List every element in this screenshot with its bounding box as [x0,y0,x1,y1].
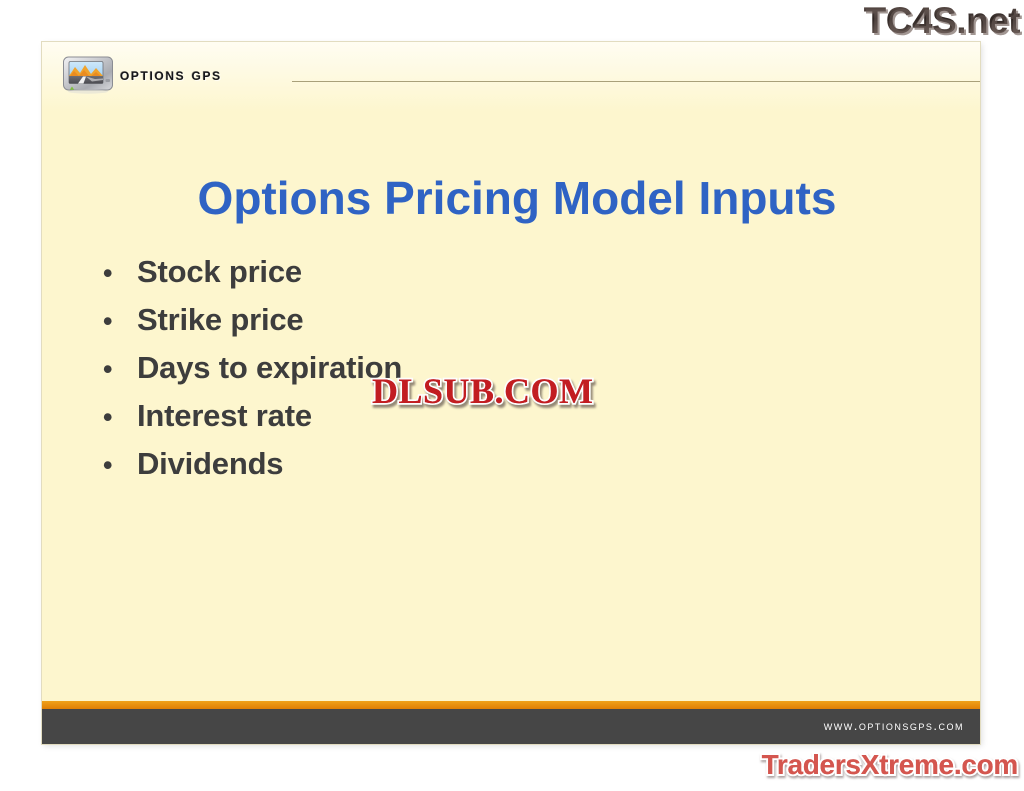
bullet-marker-icon: • [97,308,137,335]
footer-url-label: www.OptionsGPS.com [824,718,964,733]
list-item-label: Strike price [137,302,797,338]
options-gps-wordmark: Options GPS [120,65,222,85]
bullet-marker-icon: • [97,260,137,287]
watermark-tradersxtreme: TradersXtreme.com [762,749,1018,781]
bullet-marker-icon: • [97,452,137,479]
watermark-dlsub: DLSUB.COM [372,370,594,412]
slide-title: Options Pricing Model Inputs [42,173,980,224]
slide-header: Options GPS [42,42,980,100]
footer-orange-stripe [42,701,980,709]
presentation-slide: Options GPS Options Pricing Model Inputs… [42,42,980,744]
list-item: • Strike price [97,302,797,350]
bullet-marker-icon: • [97,356,137,383]
header-divider-rule [292,81,980,82]
list-item: • Stock price [97,254,797,302]
slide-footer-bar: www.OptionsGPS.com [42,709,980,744]
site-brand-tc4s: TC4S.net [864,2,1020,39]
list-item-label: Dividends [137,446,797,482]
list-item-label: Stock price [137,254,797,290]
gps-device-icon [62,55,114,95]
list-item: • Dividends [97,446,797,494]
bullet-marker-icon: • [97,404,137,431]
